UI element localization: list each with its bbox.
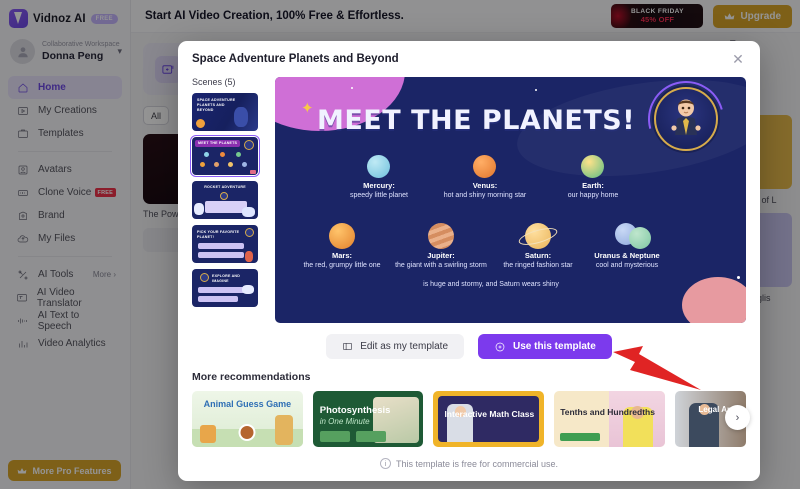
use-button-label: Use this template [513, 341, 596, 352]
planet-neptune [629, 227, 651, 249]
planet-desc: hot and shiny morning star [425, 191, 545, 200]
planet-desc: speedy little planet [319, 191, 439, 200]
modal-body: Scenes (5) SPACE ADVENTURE PLANETS AND B… [178, 77, 760, 323]
text-block [198, 243, 244, 249]
planet-shape [196, 119, 205, 128]
recommendation-title: Tenths and Hundredths [560, 407, 655, 417]
text-block [198, 252, 244, 258]
planet-earth [581, 155, 604, 178]
template-preview[interactable]: ✦ MEET THE PLANETS! [275, 77, 746, 323]
planet-mercury [367, 155, 390, 178]
recommendation-card-3[interactable]: Interactive Math Class [433, 391, 544, 447]
rocket-shape [242, 207, 255, 217]
recommendations-title: More recommendations [192, 371, 746, 383]
close-icon[interactable]: ✕ [730, 51, 746, 67]
scene-thumbnail-4[interactable]: PICK YOUR FAVORITE PLANET! [192, 225, 258, 263]
avatar-shape [200, 273, 209, 282]
planet-name: Mercury: [319, 181, 439, 191]
planet-name: Earth: [533, 181, 653, 191]
badge-shape [250, 170, 256, 174]
scene-thumbnail-5[interactable]: EXPLORE AND IMAGINE [192, 269, 258, 307]
use-this-template-button[interactable]: Use this template [478, 334, 612, 359]
avatar-shape [220, 192, 228, 200]
planet-name: Uranus & Neptune [567, 251, 687, 261]
scene-title: ROCKET ADVENTURE [192, 185, 258, 190]
decor-asteroid [682, 277, 746, 323]
scene-title: PICK YOUR FAVORITE PLANET! [197, 230, 242, 240]
planet-label-venus: Venus: hot and shiny morning star [425, 181, 545, 200]
recommendation-title: Interactive Math Class [444, 409, 534, 419]
character-icon [666, 95, 706, 139]
edit-as-my-template-button[interactable]: Edit as my template [326, 334, 464, 359]
recommendations-section: More recommendations Animal Guess Game P… [178, 359, 760, 447]
avatar [654, 87, 718, 151]
recommendation-title: Photosynthesis [320, 405, 391, 416]
planet-desc: our happy home [533, 191, 653, 200]
planet-venus [473, 155, 496, 178]
modal-footer: i This template is free for commercial u… [178, 458, 760, 469]
star-dot [535, 89, 537, 91]
recommendation-card-2[interactable]: Photosynthesis in One Minute [313, 391, 424, 447]
planet-shape [220, 152, 225, 157]
scene-thumbnail-3[interactable]: ROCKET ADVENTURE [192, 181, 258, 219]
recommendation-subtitle: in One Minute [320, 417, 370, 426]
text-block [198, 296, 238, 302]
scene-title: MEET THE PLANETS [198, 141, 242, 146]
modal-title: Space Adventure Planets and Beyond [192, 53, 730, 65]
text-block [205, 201, 247, 213]
text-block [198, 287, 246, 293]
edit-template-icon [342, 341, 353, 352]
planet-shape [228, 162, 233, 167]
scene-title: EXPLORE AND IMAGINE [212, 274, 242, 284]
planet-shape [236, 152, 241, 157]
preview-extra-line: is huge and stormy, and Saturn wears shi… [371, 281, 611, 288]
avatar-shape [244, 140, 254, 150]
scenes-panel: Scenes (5) SPACE ADVENTURE PLANETS AND B… [192, 77, 262, 323]
modal-actions: Edit as my template Use this template [178, 334, 760, 359]
scene-thumbnail-1[interactable]: SPACE ADVENTURE PLANETS AND BEYOND [192, 93, 258, 131]
preview-heading: MEET THE PLANETS! [317, 105, 635, 136]
astronaut-shape [194, 203, 204, 215]
planet-desc: cool and mysterious [567, 261, 687, 270]
sparkle-icon: ✦ [301, 99, 314, 117]
info-icon: i [380, 458, 391, 469]
planet-shape [214, 162, 219, 167]
recommendations-row: Animal Guess Game Photosynthesis in One … [192, 391, 746, 447]
edit-button-label: Edit as my template [360, 341, 448, 352]
planet-shape [200, 162, 205, 167]
recommendation-card-4[interactable]: Tenths and Hundredths [554, 391, 665, 447]
recommendation-title: Animal Guess Game [192, 399, 303, 410]
scenes-label: Scenes (5) [192, 77, 262, 87]
star-dot [351, 87, 353, 89]
character-shape [234, 107, 248, 127]
recommendation-card-1[interactable]: Animal Guess Game [192, 391, 303, 447]
modal-header: Space Adventure Planets and Beyond ✕ [178, 41, 760, 77]
planet-shape [242, 162, 247, 167]
scene-thumbnail-2[interactable]: MEET THE PLANETS [192, 137, 258, 175]
template-preview-modal: Space Adventure Planets and Beyond ✕ Sce… [178, 41, 760, 481]
planet-mars [329, 223, 355, 249]
planet-shape [204, 152, 209, 157]
planet-jupiter [428, 223, 454, 249]
star-dot [737, 276, 740, 279]
planet-label-mercury: Mercury: speedy little planet [319, 181, 439, 200]
chevron-right-icon[interactable]: › [725, 405, 750, 430]
avatar-shape [245, 228, 254, 237]
planet-label-earth: Earth: our happy home [533, 181, 653, 200]
footer-note: This template is free for commercial use… [396, 459, 558, 469]
character-shape [245, 251, 253, 262]
planet-label-uranus-neptune: Uranus & Neptune cool and mysterious [567, 251, 687, 270]
rocket-shape [242, 285, 254, 294]
plus-circle-icon [494, 341, 506, 353]
planet-name: Venus: [425, 181, 545, 191]
